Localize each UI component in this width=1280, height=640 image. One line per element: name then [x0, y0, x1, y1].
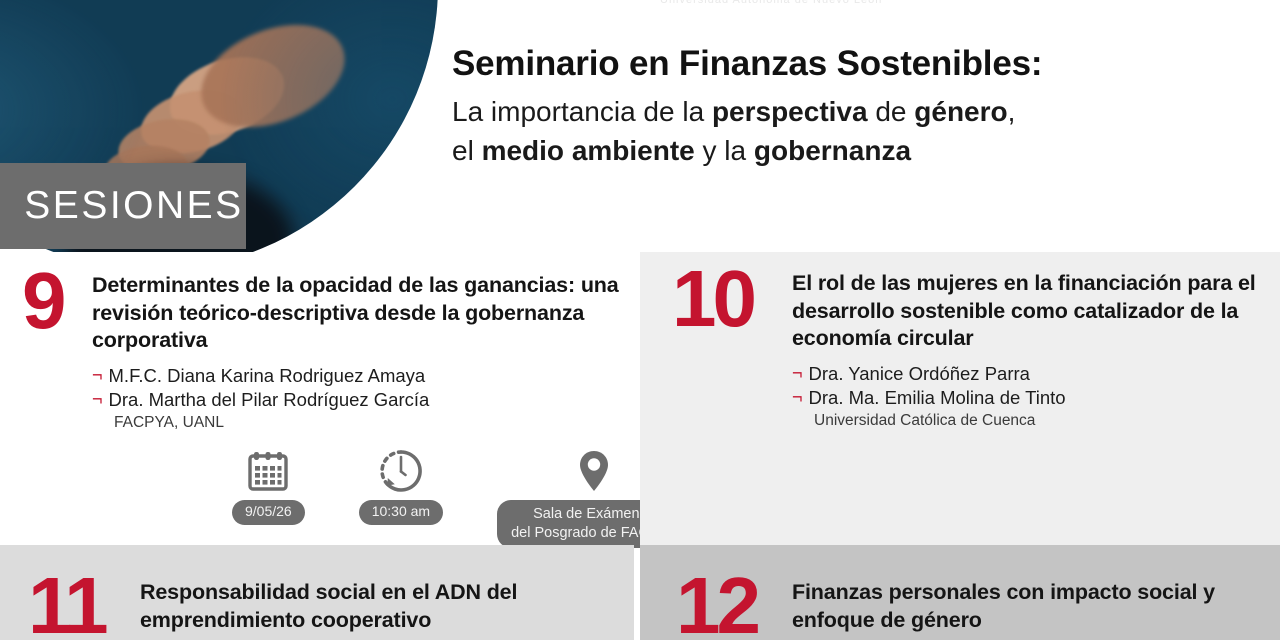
session-card-11[interactable]: 11 Responsabilidad social en el ADN del …	[0, 545, 634, 640]
bullet-dash-icon: ¬	[92, 364, 103, 387]
speaker-name: Dra. Martha del Pilar Rodríguez García	[109, 388, 430, 412]
speaker-row: ¬ Dra. Martha del Pilar Rodríguez García	[92, 388, 622, 412]
title-block: Seminario en Finanzas Sostenibles: La im…	[452, 44, 1264, 170]
top-cropped-strip: Universidad Autónoma de Nuevo León	[660, 0, 1080, 6]
session-card-9[interactable]: 9 Determinantes de la opacidad de las ga…	[0, 252, 634, 545]
session-title-9: Determinantes de la opacidad de las gana…	[92, 272, 622, 355]
session-title-10: El rol de las mujeres en la financiación…	[792, 270, 1262, 353]
session-title-11: Responsabilidad social en el ADN del emp…	[140, 579, 620, 634]
speaker-row: ¬ M.F.C. Diana Karina Rodriguez Amaya	[92, 364, 622, 388]
session-speakers-10: ¬ Dra. Yanice Ordóñez Parra ¬ Dra. Ma. E…	[792, 362, 1262, 430]
session-number-10: 10	[672, 262, 753, 336]
session-card-12[interactable]: 12 Finanzas personales con impacto socia…	[640, 545, 1280, 640]
page-title: Seminario en Finanzas Sostenibles:	[452, 44, 1264, 84]
session-meta-9: 9/05/26 10:30 am	[232, 448, 691, 548]
session-title-12: Finanzas personales con impacto social y…	[792, 579, 1272, 634]
bullet-dash-icon: ¬	[92, 388, 103, 411]
speaker-row: ¬ Dra. Ma. Emilia Molina de Tinto	[792, 386, 1262, 410]
sesiones-banner: SESIONES	[0, 163, 246, 249]
speaker-affiliation: Universidad Católica de Cuenca	[814, 411, 1262, 430]
sesiones-banner-label: SESIONES	[2, 184, 243, 228]
sessions-grid: 9 Determinantes de la opacidad de las ga…	[0, 252, 1280, 640]
speaker-affiliation: FACPYA, UANL	[114, 413, 622, 432]
session-date-badge: 9/05/26	[232, 500, 305, 525]
location-pin-icon	[571, 448, 617, 494]
clock-icon	[378, 448, 424, 494]
meta-time-9: 10:30 am	[359, 448, 443, 525]
page-subtitle-line-2: el medio ambiente y la gobernanza	[452, 132, 1264, 169]
meta-date-9: 9/05/26	[232, 448, 305, 525]
session-time-badge: 10:30 am	[359, 500, 443, 525]
speaker-name: M.F.C. Diana Karina Rodriguez Amaya	[109, 364, 426, 388]
speaker-name: Dra. Ma. Emilia Molina de Tinto	[809, 386, 1066, 410]
calendar-icon	[245, 448, 291, 494]
speaker-name: Dra. Yanice Ordóñez Parra	[809, 362, 1030, 386]
bullet-dash-icon: ¬	[792, 362, 803, 385]
session-number-9: 9	[22, 264, 63, 338]
session-number-11: 11	[28, 569, 105, 640]
page-subtitle-line-1: La importancia de la perspectiva de géne…	[452, 93, 1264, 130]
session-card-10[interactable]: 10 El rol de las mujeres en la financiac…	[640, 252, 1280, 545]
session-number-12: 12	[676, 569, 757, 640]
bullet-dash-icon: ¬	[792, 386, 803, 409]
speaker-row: ¬ Dra. Yanice Ordóñez Parra	[792, 362, 1262, 386]
seminar-poster: Universidad Autónoma de Nuevo León Semin…	[0, 0, 1280, 640]
session-speakers-9: ¬ M.F.C. Diana Karina Rodriguez Amaya ¬ …	[92, 364, 622, 432]
